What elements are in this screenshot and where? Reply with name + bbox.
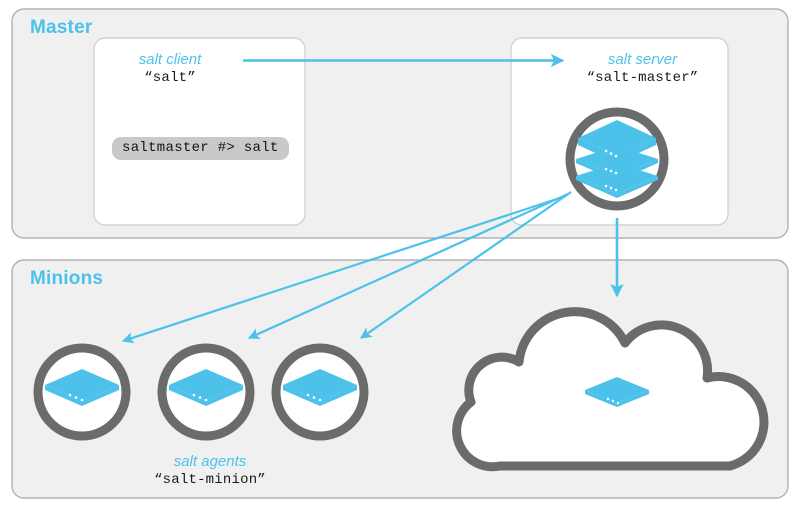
salt-client-name-label: “salt” (110, 69, 230, 88)
salt-server-label-group: salt server “salt-master” (560, 50, 725, 88)
salt-server-name-label: “salt-master” (560, 69, 725, 88)
salt-command-chip[interactable]: saltmaster #> salt (112, 137, 289, 160)
salt-server-role-label: salt server (560, 50, 725, 69)
minion-node-2[interactable] (162, 348, 250, 436)
salt-client-role-label: salt client (110, 50, 230, 69)
diagram-canvas: Master Minions salt client “salt” salt s… (0, 0, 800, 507)
minion-node-1[interactable] (38, 348, 126, 436)
panel-title-master: Master (30, 17, 92, 39)
panel-title-minions: Minions (30, 268, 103, 290)
salt-agents-label-group: salt agents “salt-minion” (120, 452, 300, 490)
salt-client-label-group: salt client “salt” (110, 50, 230, 88)
salt-server-node[interactable] (570, 112, 664, 206)
salt-agents-name-label: “salt-minion” (120, 471, 300, 490)
minion-node-3[interactable] (276, 348, 364, 436)
salt-agents-role-label: salt agents (120, 452, 300, 471)
